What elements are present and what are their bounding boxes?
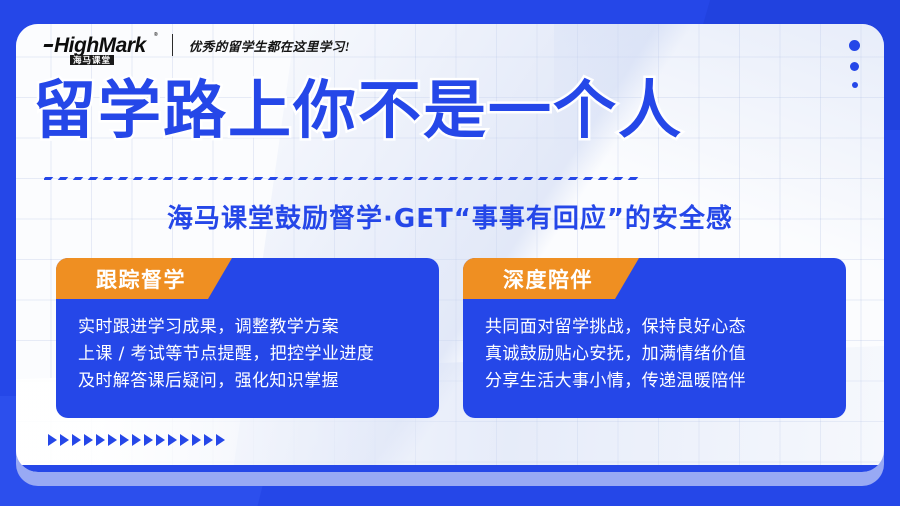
dot-large-icon <box>849 40 860 51</box>
dash-segment-icon <box>103 177 114 180</box>
arrow-right-icon <box>168 434 177 446</box>
dash-segment-icon <box>568 177 579 180</box>
dash-segment-icon <box>613 177 624 180</box>
arrow-right-icon <box>156 434 165 446</box>
dash-segment-icon <box>538 177 549 180</box>
content-layer: HighMark ® 海马课堂 优秀的留学生都在这里学习! 留学路上你不是一个人… <box>0 0 900 506</box>
dash-segment-icon <box>388 177 399 180</box>
arrow-right-icon <box>216 434 225 446</box>
dash-segment-icon <box>583 177 594 180</box>
arrow-right-icon <box>72 434 81 446</box>
dash-segment-icon <box>508 177 519 180</box>
dash-segment-icon <box>223 177 234 180</box>
dash-segment-icon <box>403 177 414 180</box>
feature-card-line: 及时解答课后疑问，强化知识掌握 <box>78 368 417 395</box>
dash-segment-icon <box>44 177 53 180</box>
dash-segment-icon <box>358 177 369 180</box>
dot-small-icon <box>852 82 858 88</box>
dash-segment-icon <box>313 177 324 180</box>
feature-card-line: 实时跟进学习成果，调整教学方案 <box>78 314 417 341</box>
decorative-dots <box>849 40 860 99</box>
arrow-right-icon <box>180 434 189 446</box>
dash-segment-icon <box>133 177 144 180</box>
arrow-right-icon <box>204 434 213 446</box>
dash-segment-icon <box>328 177 339 180</box>
brand-divider <box>172 34 173 56</box>
dash-segment-icon <box>343 177 354 180</box>
arrow-right-icon <box>84 434 93 446</box>
arrow-right-icon <box>96 434 105 446</box>
feature-card-line: 分享生活大事小情，传递温暖陪伴 <box>485 368 824 395</box>
logo-wordmark-text: HighMark <box>54 34 146 57</box>
dash-segment-icon <box>193 177 204 180</box>
logo-chinese-name: 海马课堂 <box>70 55 114 65</box>
feature-card-line: 真诚鼓励贴心安抚，加满情绪价值 <box>485 341 824 368</box>
feature-card-tab: 深度陪伴 <box>463 258 639 299</box>
dash-segment-icon <box>148 177 159 180</box>
dash-segment-icon <box>58 177 69 180</box>
dash-segment-icon <box>493 177 504 180</box>
feature-card: 跟踪督学实时跟进学习成果，调整教学方案上课 / 考试等节点提醒，把控学业进度及时… <box>56 258 439 418</box>
feature-card: 深度陪伴共同面对留学挑战，保持良好心态真诚鼓励贴心安抚，加满情绪价值分享生活大事… <box>463 258 846 418</box>
feature-card-title: 跟踪督学 <box>96 264 186 294</box>
poster-root: HighMark ® 海马课堂 优秀的留学生都在这里学习! 留学路上你不是一个人… <box>0 0 900 506</box>
feature-cards: 跟踪督学实时跟进学习成果，调整教学方案上课 / 考试等节点提醒，把控学业进度及时… <box>56 258 846 418</box>
brand-slogan: 优秀的留学生都在这里学习! <box>189 36 350 55</box>
logo-trademark-icon: ® <box>154 33 158 38</box>
dash-segment-icon <box>298 177 309 180</box>
brand-row: HighMark ® 海马课堂 优秀的留学生都在这里学习! <box>44 34 350 56</box>
arrow-right-icon <box>48 434 57 446</box>
dash-segment-icon <box>598 177 609 180</box>
dash-segment-icon <box>268 177 279 180</box>
dash-segment-icon <box>283 177 294 180</box>
page-subtitle: 海马课堂鼓励督学·GET“事事有回应”的安全感 <box>0 198 900 235</box>
arrow-right-icon <box>192 434 201 446</box>
arrow-right-icon <box>132 434 141 446</box>
arrow-decoration <box>48 434 225 446</box>
dash-segment-icon <box>73 177 84 180</box>
feature-card-body: 实时跟进学习成果，调整教学方案上课 / 考试等节点提醒，把控学业进度及时解答课后… <box>56 314 439 395</box>
arrow-right-icon <box>144 434 153 446</box>
logo-wordmark: HighMark ® 海马课堂 <box>44 35 146 56</box>
arrow-right-icon <box>108 434 117 446</box>
dash-segment-icon <box>523 177 534 180</box>
dash-segment-icon <box>253 177 264 180</box>
dash-segment-icon <box>238 177 249 180</box>
feature-card-line: 上课 / 考试等节点提醒，把控学业进度 <box>78 341 417 368</box>
arrow-right-icon <box>60 434 69 446</box>
dash-segment-icon <box>553 177 564 180</box>
dash-segment-icon <box>478 177 489 180</box>
feature-card-line: 共同面对留学挑战，保持良好心态 <box>485 314 824 341</box>
dashed-divider <box>44 172 856 184</box>
dash-segment-icon <box>463 177 474 180</box>
dash-segment-icon <box>373 177 384 180</box>
dash-segment-icon <box>118 177 129 180</box>
feature-card-body: 共同面对留学挑战，保持良好心态真诚鼓励贴心安抚，加满情绪价值分享生活大事小情，传… <box>463 314 846 395</box>
dash-segment-icon <box>433 177 444 180</box>
page-title: 留学路上你不是一个人 <box>33 78 833 145</box>
feature-card-tab: 跟踪督学 <box>56 258 232 299</box>
dot-medium-icon <box>850 62 859 71</box>
dash-segment-icon <box>448 177 459 180</box>
dash-segment-icon <box>628 177 639 180</box>
highmark-logo: HighMark ® 海马课堂 <box>44 35 146 56</box>
dash-segment-icon <box>208 177 219 180</box>
dash-segment-icon <box>178 177 189 180</box>
dash-segment-icon <box>418 177 429 180</box>
dash-segment-icon <box>163 177 174 180</box>
dash-segment-icon <box>88 177 99 180</box>
logo-dash-icon <box>44 44 54 47</box>
arrow-right-icon <box>120 434 129 446</box>
feature-card-title: 深度陪伴 <box>503 264 593 294</box>
